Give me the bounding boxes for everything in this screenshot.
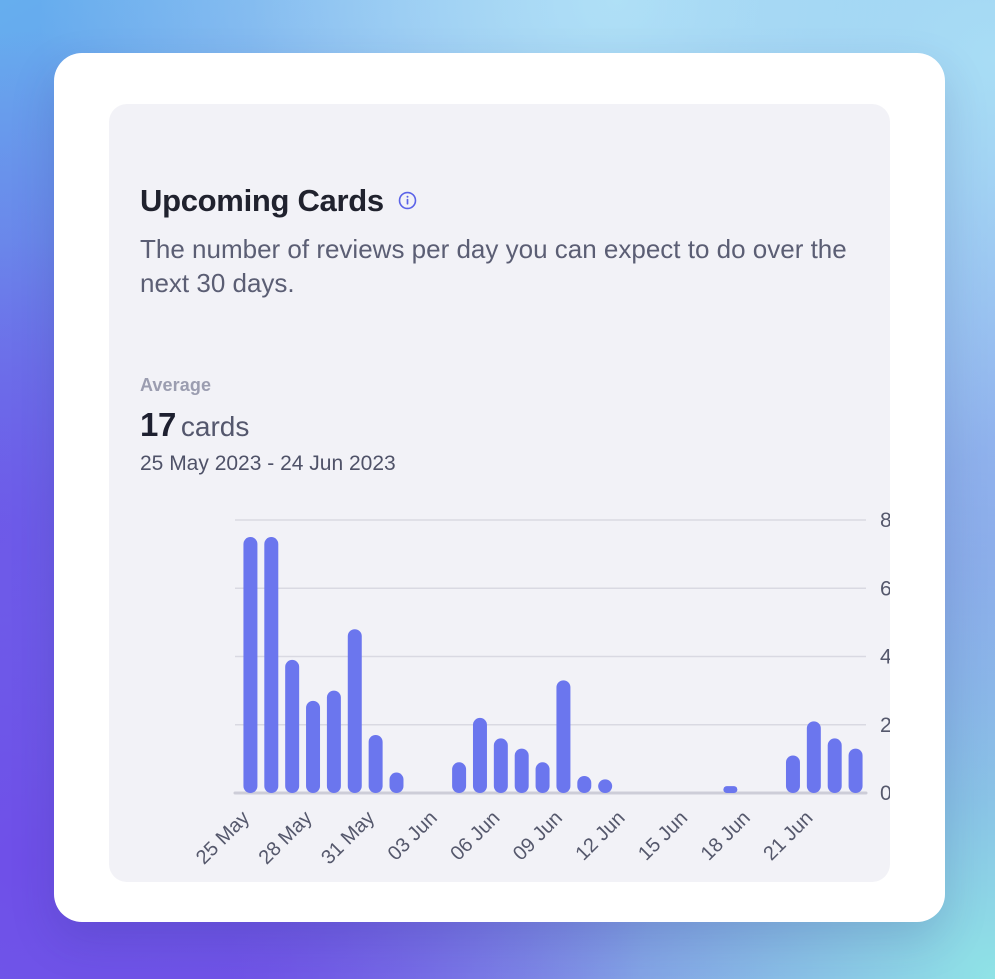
x-axis-tick-label: 09 Jun — [509, 807, 567, 865]
x-axis-tick-label: 28 May — [255, 807, 317, 869]
chart-bar[interactable] — [849, 749, 863, 793]
x-axis-tick-label: 21 Jun — [759, 807, 817, 865]
chart-bar[interactable] — [369, 735, 383, 793]
x-axis-tick-label: 15 Jun — [634, 807, 692, 865]
stats-label: Average — [140, 376, 396, 394]
page-title: Upcoming Cards — [140, 185, 384, 216]
chart-bar[interactable] — [285, 660, 299, 793]
chart-bar[interactable] — [828, 738, 842, 793]
chart-bar[interactable] — [348, 629, 362, 793]
y-axis-tick-label: 60 — [880, 577, 890, 600]
stats-value: 17 — [140, 406, 176, 443]
y-axis-tick-label: 40 — [880, 646, 890, 669]
chart-bar[interactable] — [327, 691, 341, 793]
chart-bar[interactable] — [390, 773, 404, 793]
chart-bar[interactable] — [536, 762, 550, 793]
x-axis-tick-label: 31 May — [317, 807, 379, 869]
panel-description: The number of reviews per day you can ex… — [140, 232, 864, 301]
x-axis-tick-label: 06 Jun — [446, 807, 504, 865]
stats-unit: cards — [181, 411, 249, 442]
outer-card: Upcoming Cards The number of reviews per… — [54, 53, 945, 922]
chart-bar[interactable] — [473, 718, 487, 793]
chart-bar[interactable] — [243, 537, 257, 793]
stats-date-range: 25 May 2023 - 24 Jun 2023 — [140, 453, 396, 474]
stats-value-row: 17cards — [140, 408, 396, 441]
panel-header: Upcoming Cards The number of reviews per… — [140, 185, 864, 301]
chart-bar[interactable] — [577, 776, 591, 793]
y-axis-tick-label: 0 — [880, 782, 890, 805]
x-axis-tick-label: 18 Jun — [697, 807, 755, 865]
x-axis-tick-label: 12 Jun — [572, 807, 630, 865]
screenshot-viewport: Upcoming Cards The number of reviews per… — [0, 0, 995, 979]
chart-bar[interactable] — [264, 537, 278, 793]
chart-bar[interactable] — [452, 762, 466, 793]
chart-bar[interactable] — [598, 779, 612, 793]
chart-bar[interactable] — [786, 755, 800, 793]
chart-bar[interactable] — [494, 738, 508, 793]
chart-bar[interactable] — [807, 721, 821, 793]
y-axis-tick-label: 20 — [880, 714, 890, 737]
average-stats: Average 17cards 25 May 2023 - 24 Jun 202… — [140, 376, 396, 474]
x-axis-tick-label: 03 Jun — [384, 807, 442, 865]
y-axis-tick-label: 80 — [880, 509, 890, 532]
info-circle-icon[interactable] — [398, 191, 417, 210]
chart-bar[interactable] — [723, 786, 737, 793]
title-row: Upcoming Cards — [140, 185, 864, 216]
chart-bar[interactable] — [515, 749, 529, 793]
chart-bar[interactable] — [556, 680, 570, 793]
chart-bar[interactable] — [306, 701, 320, 793]
x-axis-tick-label: 25 May — [192, 807, 254, 869]
upcoming-cards-panel: Upcoming Cards The number of reviews per… — [109, 104, 890, 882]
